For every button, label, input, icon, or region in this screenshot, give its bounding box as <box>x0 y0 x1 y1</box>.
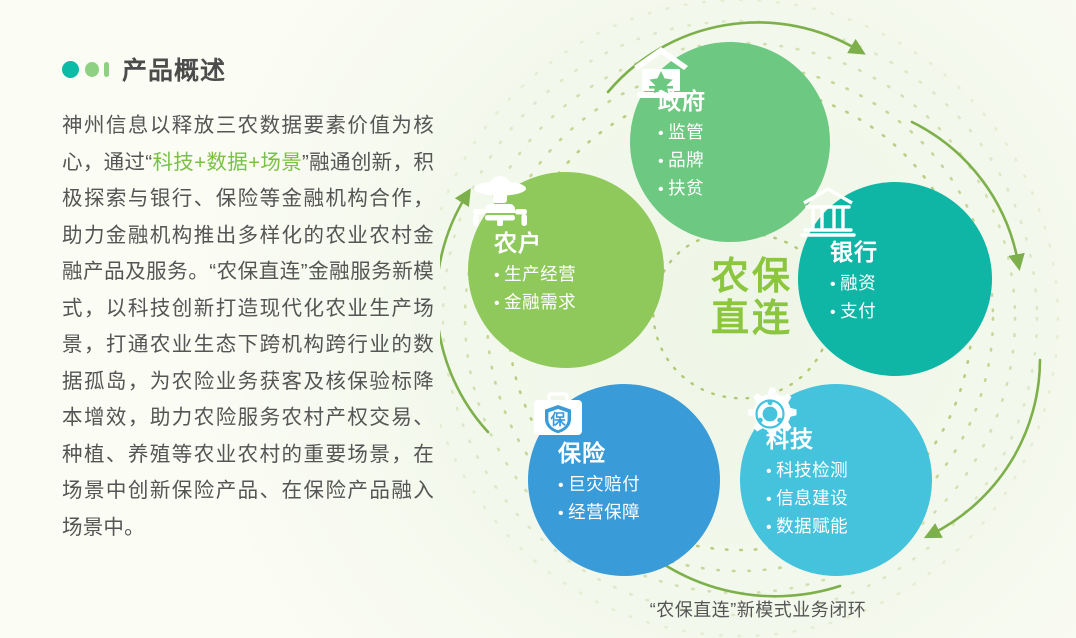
node-bullet: 经营保障 <box>558 499 640 527</box>
node-bullet-list: 科技检测 信息建设 数据赋能 <box>766 457 848 541</box>
node-bullet: 扶贫 <box>658 175 706 203</box>
diagram-center-label: 农保 直连 <box>666 256 838 340</box>
node-bullet: 生产经营 <box>494 261 576 289</box>
marker-dot-large-icon <box>62 61 79 78</box>
node-farmer[interactable]: 农户 生产经营 金融需求 <box>468 172 664 368</box>
node-bullet: 科技检测 <box>766 457 848 485</box>
body-part-2: ”融通创新，积极探索与银行、保险等金融机构合作，助力金融机构推出多样化的农业农村… <box>62 151 434 539</box>
marker-bar-icon <box>104 62 109 77</box>
node-bullet-list: 生产经营 金融需求 <box>494 261 576 317</box>
page-title: 产品概述 <box>122 51 226 87</box>
center-label-line-1: 农保 <box>666 256 838 298</box>
svg-text:保: 保 <box>549 411 566 429</box>
arrow-bank-to-tech <box>932 360 1040 534</box>
center-label-line-2: 直连 <box>666 298 838 340</box>
node-bullet-list: 巨灾赔付 经营保障 <box>558 471 640 527</box>
node-bullet: 信息建设 <box>766 485 848 513</box>
node-bullet: 数据赋能 <box>766 513 848 541</box>
overview-body: 神州信息以释放三农数据要素价值为核心，通过“科技+数据+场景”融通创新，积极探索… <box>62 108 434 546</box>
node-bullet: 金融需求 <box>494 289 576 317</box>
diagram-caption: “农保直连”新模式业务闭环 <box>440 596 1076 622</box>
node-insurance[interactable]: 保 保险 巨灾赔付 经营保障 <box>528 384 720 576</box>
node-bullet: 巨灾赔付 <box>558 471 640 499</box>
section-heading: 产品概述 <box>62 52 434 86</box>
node-bullet-list: 监管 品牌 扶贫 <box>658 119 706 203</box>
marker-dot-medium-icon <box>85 62 99 77</box>
overview-panel: 产品概述 神州信息以释放三农数据要素价值为核心，通过“科技+数据+场景”融通创新… <box>62 52 434 546</box>
node-bullet: 品牌 <box>658 147 706 175</box>
node-technology[interactable]: 科技 科技检测 信息建设 数据赋能 <box>740 384 932 576</box>
business-loop-diagram: 政府 监管 品牌 扶贫 银行 <box>440 0 1076 638</box>
body-highlight: 科技+数据+场景 <box>152 151 302 174</box>
node-bullet: 监管 <box>658 119 706 147</box>
